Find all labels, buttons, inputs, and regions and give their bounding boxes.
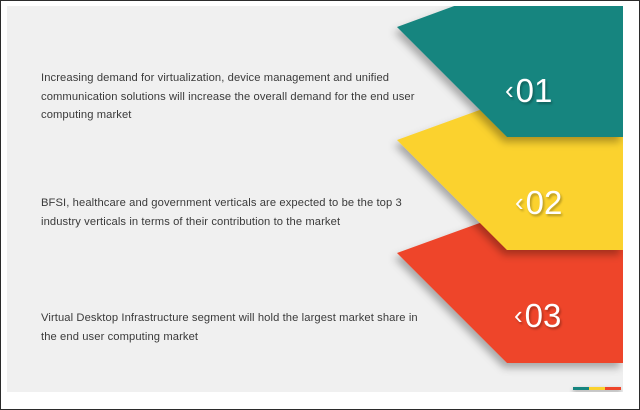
band-label-02: ‹ 02 xyxy=(515,186,562,219)
accent-bar-yellow xyxy=(589,387,605,390)
insight-text-03-line-1: Virtual Desktop Infrastructure segment w… xyxy=(41,309,465,328)
band-label-03: ‹ 03 xyxy=(514,299,561,332)
accent-bar-teal xyxy=(573,387,589,390)
slide-root: ‹ 01 ‹ 02 ‹ 03 Increasing demand for vir… xyxy=(0,0,640,410)
chevron-left-icon-02: ‹ xyxy=(515,189,524,215)
insight-text-01-line-1: Increasing demand for virtualization, de… xyxy=(41,69,465,88)
accent-bar-red xyxy=(605,387,621,390)
chevron-left-icon-01: ‹ xyxy=(505,77,514,103)
insight-text-03: Virtual Desktop Infrastructure segment w… xyxy=(41,309,465,346)
accent-bar-group xyxy=(573,387,621,390)
insight-text-02-line-1: BFSI, healthcare and government vertical… xyxy=(41,194,465,213)
band-label-01: ‹ 01 xyxy=(505,74,552,107)
insight-text-01-line-3: computing market xyxy=(41,106,465,125)
insight-text-01-line-2: communication solutions will increase th… xyxy=(41,88,465,107)
band-number-02: 02 xyxy=(526,186,563,219)
band-number-03: 03 xyxy=(525,299,562,332)
insight-text-01: Increasing demand for virtualization, de… xyxy=(41,69,465,125)
insight-text-02: BFSI, healthcare and government vertical… xyxy=(41,194,465,231)
insight-text-03-line-2: the end user computing market xyxy=(41,328,465,347)
chevron-left-icon-03: ‹ xyxy=(514,302,523,328)
insight-text-02-line-2: industry verticals in terms of their con… xyxy=(41,213,465,232)
band-number-01: 01 xyxy=(516,74,553,107)
slide-canvas: ‹ 01 ‹ 02 ‹ 03 Increasing demand for vir… xyxy=(7,6,623,392)
